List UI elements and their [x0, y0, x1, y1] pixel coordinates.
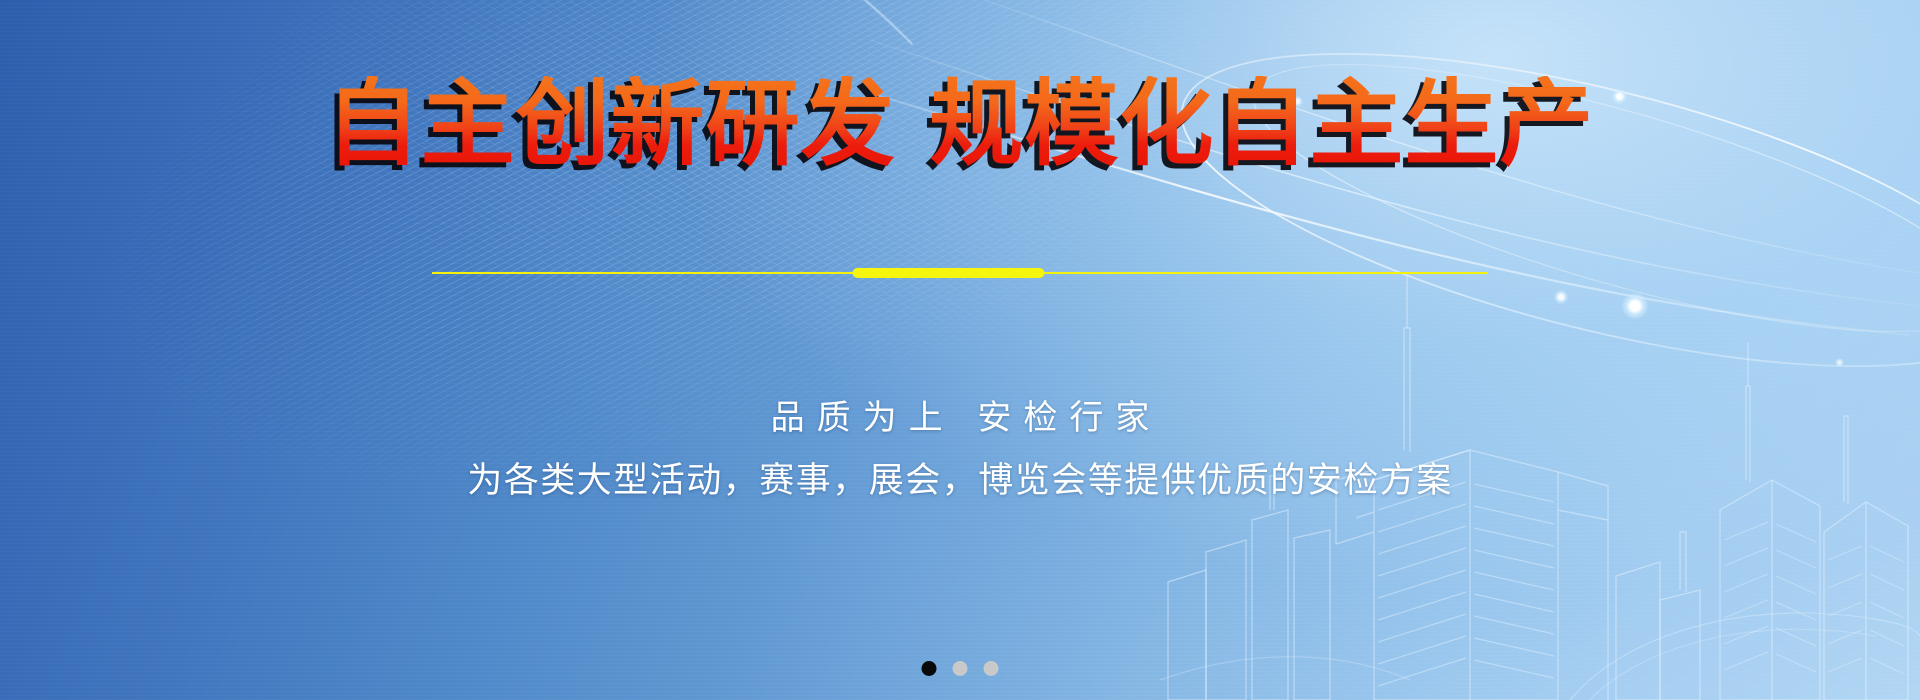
hero-banner-slide: 自主创新研发 规模化自主生产 品质为上 安检行家 为各类大型活动，赛事，展会，博…	[0, 0, 1920, 700]
banner-subtagline: 为各类大型活动，赛事，展会，博览会等提供优质的安检方案	[0, 452, 1920, 503]
banner-headline: 自主创新研发 规模化自主生产	[0, 76, 1920, 175]
banner-tagline: 品质为上 安检行家	[0, 390, 1920, 439]
divider	[432, 268, 1488, 278]
divider-center-accent	[852, 268, 1044, 278]
carousel-dot-3[interactable]	[984, 661, 999, 676]
carousel-dot-1[interactable]	[922, 661, 937, 676]
carousel-dot-2[interactable]	[953, 661, 968, 676]
carousel-dots[interactable]	[922, 661, 999, 676]
banner-content: 自主创新研发 规模化自主生产 品质为上 安检行家 为各类大型活动，赛事，展会，博…	[0, 0, 1920, 700]
